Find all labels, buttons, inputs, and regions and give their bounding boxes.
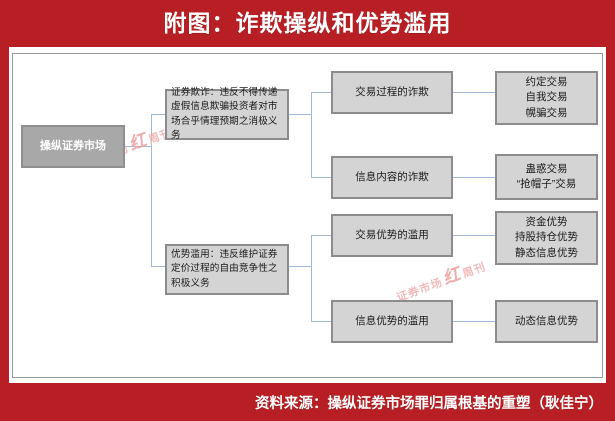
- left-red-rail: [0, 0, 9, 421]
- connector-l2-2-to-l3-4: [311, 321, 331, 322]
- node-advantage-abuse-label: 优势滥用：违反维护证券定价过程的自由竞争性之积极义务: [171, 248, 283, 291]
- node-leaf-trade-advantage-types[interactable]: 资金优势 持股持仓优势 静态信息优势: [495, 211, 598, 265]
- node-info-advantage-abuse[interactable]: 信息优势的滥用: [331, 300, 453, 343]
- connector-l2-1-to-l3-1: [311, 92, 331, 93]
- leaf-line: 持股持仓优势: [515, 230, 578, 245]
- leaf-line: 幌骗交易: [526, 106, 568, 121]
- node-leaf-info-fraud-types[interactable]: 蛊惑交易 “抢帽子”交易: [495, 154, 598, 200]
- header-bar: 附图：诈欺操纵和优势滥用: [0, 0, 615, 47]
- node-leaf-trade-fraud-types[interactable]: 约定交易 自我交易 幌骗交易: [495, 71, 598, 125]
- watermark-suffix: 周刊: [461, 261, 488, 280]
- node-root[interactable]: 操纵证券市场: [21, 125, 125, 168]
- node-securities-fraud[interactable]: 证券欺诈：违反不得传递虚假信息欺骗投资者对市场合乎情理预期之消极义务: [165, 89, 289, 140]
- infographic-page: 附图：诈欺操纵和优势滥用 操纵证券市场 证券欺诈：违反不得传递虚假信息欺骗投资者…: [0, 0, 615, 421]
- connector-l2-1-stem: [289, 114, 311, 115]
- page-title: 附图：诈欺操纵和优势滥用: [164, 12, 452, 35]
- node-trade-advantage-abuse-label: 交易优势的滥用: [355, 228, 429, 243]
- node-root-label: 操纵证券市场: [40, 139, 106, 155]
- connector-l3-1-to-l4-1: [453, 92, 495, 93]
- node-trade-advantage-abuse[interactable]: 交易优势的滥用: [331, 214, 453, 257]
- leaf-line: “抢帽子”交易: [517, 177, 577, 192]
- connector-root-to-l2-1: [151, 114, 165, 115]
- node-trade-process-fraud-label: 交易过程的诈欺: [355, 85, 429, 100]
- node-info-content-fraud-label: 信息内容的诈欺: [355, 170, 429, 185]
- node-info-content-fraud[interactable]: 信息内容的诈欺: [331, 156, 453, 199]
- leaf-line: 自我交易: [526, 90, 568, 105]
- connector-l3-3-to-l4-3: [453, 235, 495, 236]
- node-leaf-trade-advantage-types-lines: 资金优势 持股持仓优势 静态信息优势: [515, 215, 578, 261]
- right-red-rail: [606, 0, 615, 421]
- leaf-line: 蛊惑交易: [517, 162, 577, 177]
- node-leaf-info-advantage-types[interactable]: 动态信息优势: [495, 300, 598, 343]
- node-advantage-abuse[interactable]: 优势滥用：违反维护证券定价过程的自由竞争性之积极义务: [165, 244, 289, 295]
- connector-root-to-l2-2: [151, 266, 165, 267]
- connector-l2-1-bus: [311, 92, 312, 177]
- footer-bar: 资料来源：操纵证券市场罪归属根基的重塑（耿佳宁）: [0, 383, 615, 421]
- connector-l2-2-to-l3-3: [311, 235, 331, 236]
- node-leaf-info-fraud-types-lines: 蛊惑交易 “抢帽子”交易: [517, 162, 577, 192]
- watermark-brand-2: 证券市场红周刊: [392, 251, 489, 307]
- leaf-line: 动态信息优势: [515, 314, 578, 329]
- connector-l2-2-bus: [311, 235, 312, 321]
- connector-root-bus: [151, 114, 152, 266]
- leaf-line: 约定交易: [526, 75, 568, 90]
- connector-l2-1-to-l3-2: [311, 177, 331, 178]
- node-trade-process-fraud[interactable]: 交易过程的诈欺: [331, 71, 453, 114]
- node-leaf-info-advantage-types-lines: 动态信息优势: [515, 314, 578, 329]
- leaf-line: 静态信息优势: [515, 246, 578, 261]
- node-leaf-trade-fraud-types-lines: 约定交易 自我交易 幌骗交易: [526, 75, 568, 121]
- watermark-mark: 红: [438, 264, 465, 289]
- leaf-line: 资金优势: [515, 215, 578, 230]
- connector-l3-4-to-l4-4: [453, 321, 495, 322]
- source-note: 资料来源：操纵证券市场罪归属根基的重塑（耿佳宁）: [255, 392, 615, 413]
- diagram-canvas: 操纵证券市场 证券欺诈：违反不得传递虚假信息欺骗投资者对市场合乎情理预期之消极义…: [12, 53, 603, 378]
- watermark-mark: 红: [124, 130, 151, 155]
- connector-root-stem: [125, 146, 151, 147]
- connector-l3-2-to-l4-2: [453, 177, 495, 178]
- connector-l2-2-stem: [289, 266, 311, 267]
- node-securities-fraud-label: 证券欺诈：违反不得传递虚假信息欺骗投资者对市场合乎情理预期之消极义务: [171, 86, 283, 144]
- node-info-advantage-abuse-label: 信息优势的滥用: [355, 314, 429, 329]
